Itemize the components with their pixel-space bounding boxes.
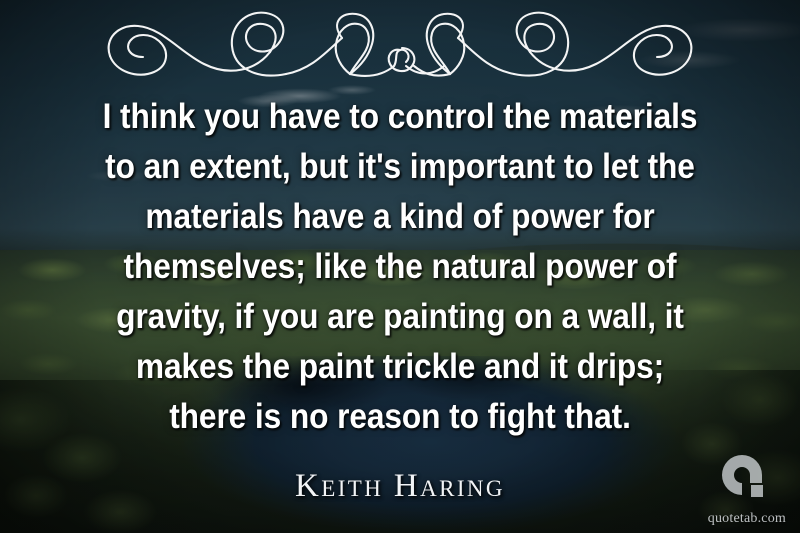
quote-image-canvas: I think you have to control the material… (0, 0, 800, 533)
quote-text: I think you have to control the material… (0, 92, 800, 442)
author-name: Keith Haring (295, 468, 505, 504)
quote-line: to an extent, but it's important to let … (58, 142, 742, 192)
quotetab-q-logo-icon (718, 453, 772, 509)
quote-line: themselves; like the natural power of (58, 242, 742, 292)
quote-author: Keith Haring (0, 466, 800, 506)
watermark[interactable]: quotetab.com (694, 451, 790, 531)
quote-line: makes the paint trickle and it drips; (58, 342, 742, 392)
quote-line: materials have a kind of power for (58, 192, 742, 242)
quote-line: gravity, if you are painting on a wall, … (58, 292, 742, 342)
watermark-site-label: quotetab.com (708, 511, 786, 527)
quote-line: I think you have to control the material… (58, 92, 742, 142)
quote-line: there is no reason to fight that. (58, 392, 742, 442)
decorative-flourish-ornament (80, 8, 720, 80)
